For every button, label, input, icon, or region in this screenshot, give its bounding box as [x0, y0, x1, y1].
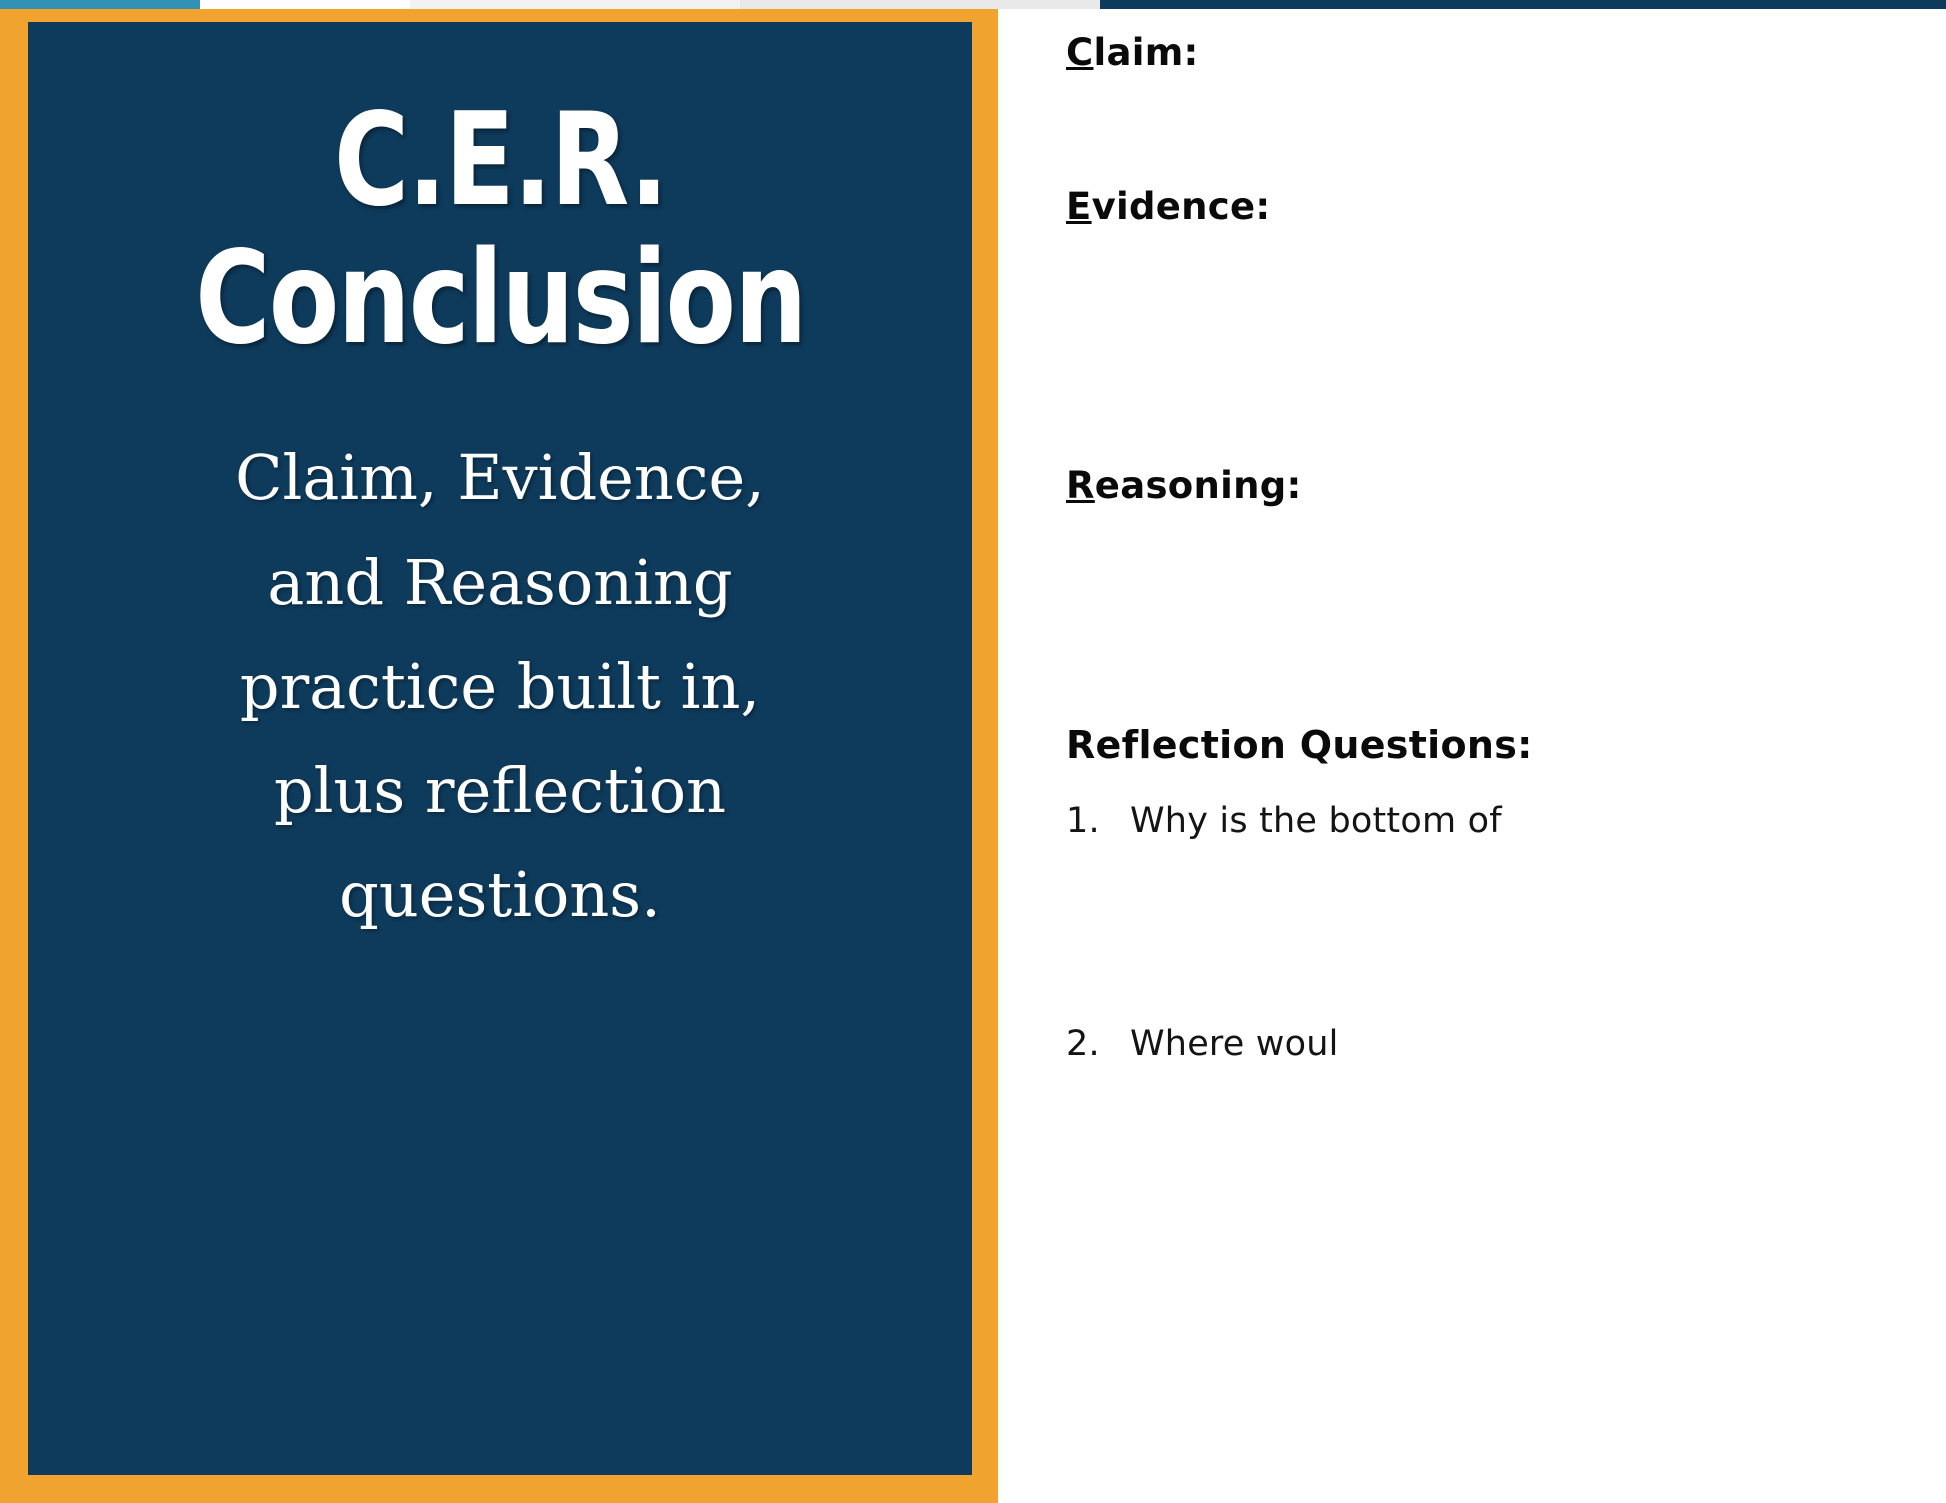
page-title: C.E.R. Conclusion: [195, 92, 805, 368]
worksheet-label-reflection-questions: Reflection Questions:: [1066, 723, 1533, 767]
reflection-question-2: 2.Where woul: [1066, 1024, 1339, 1064]
reflection-question-1: 1.Why is the bottom of: [1066, 801, 1502, 841]
reasoning-initial: R: [1066, 464, 1095, 507]
evidence-initial: E: [1066, 185, 1092, 228]
claim-initial: C: [1066, 31, 1093, 74]
top-strip-gray-left: [410, 0, 740, 9]
reflection-question-1-number: 1.: [1066, 801, 1130, 841]
claim-rest: laim:: [1093, 31, 1198, 74]
left-panel-frame: C.E.R. Conclusion Claim, Evidence, and R…: [0, 9, 998, 1503]
worksheet-label-claim: Claim:: [1066, 31, 1199, 74]
left-panel-body: C.E.R. Conclusion Claim, Evidence, and R…: [28, 22, 972, 1475]
reasoning-rest: easoning:: [1095, 464, 1302, 507]
worksheet-label-reasoning: Reasoning:: [1066, 464, 1302, 507]
reflection-question-1-text: Why is the bottom of: [1130, 801, 1502, 841]
top-strip-navy: [1100, 0, 1946, 9]
evidence-rest: vidence:: [1092, 185, 1271, 228]
panel-description: Claim, Evidence, and Reasoning practice …: [200, 426, 800, 947]
slide-canvas: Claim: Evidence: Reasoning: Reflection Q…: [0, 0, 1946, 1503]
worksheet-label-evidence: Evidence:: [1066, 185, 1271, 228]
worksheet-panel: Claim: Evidence: Reasoning: Reflection Q…: [998, 9, 1946, 1503]
top-strip-gray-right: [740, 0, 1100, 9]
top-strip-white: [200, 0, 410, 9]
reflection-question-2-text: Where woul: [1130, 1024, 1339, 1064]
top-strip-teal: [0, 0, 200, 9]
reflection-question-2-number: 2.: [1066, 1024, 1130, 1064]
